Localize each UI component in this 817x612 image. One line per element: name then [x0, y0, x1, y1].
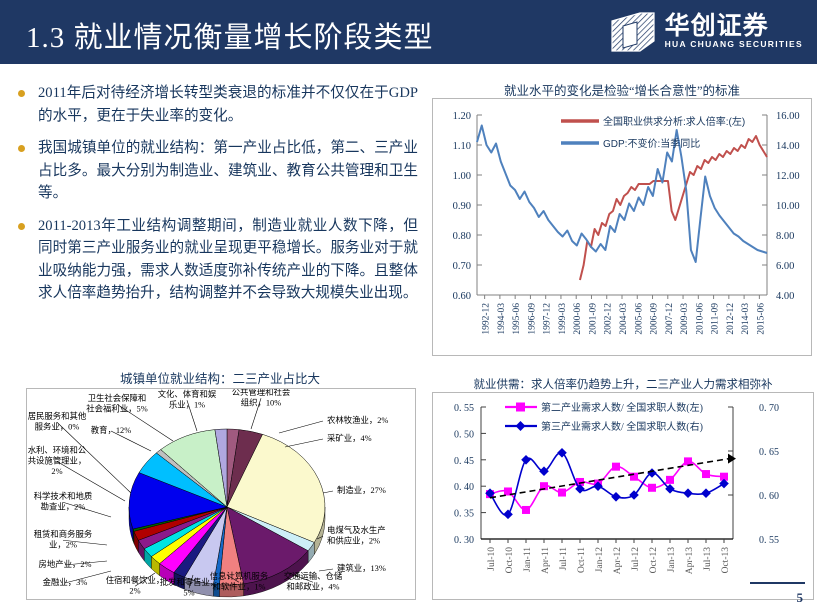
employment-gdp-chart: 1.201.101.000.900.800.700.6016.0014.0012…: [432, 98, 812, 356]
svg-text:信息计算机服务: 信息计算机服务: [210, 571, 269, 581]
svg-text:制造业，27%: 制造业，27%: [337, 485, 386, 495]
svg-text:租赁和商务服务: 租赁和商务服务: [34, 529, 93, 539]
logo-english-name: HUA CHUANG SECURITIES: [665, 39, 803, 50]
bullet-text: 2011-2013年工业结构调整期间，制造业就业人数下降，但同时第三产业服务业的…: [38, 215, 418, 305]
svg-text:Apr-12: Apr-12: [613, 547, 623, 574]
svg-text:12.00: 12.00: [776, 171, 800, 182]
labor-demand-ratio-chart: 0. 550. 500. 450. 400. 350. 300. 700. 65…: [432, 392, 814, 600]
svg-text:农林牧渔业，2%: 农林牧渔业，2%: [327, 415, 388, 425]
svg-text:2006-09: 2006-09: [650, 303, 660, 335]
top-right-chart-title: 就业水平的变化是检验“增长合意性”的标准: [432, 80, 812, 99]
pie-plot: 农林牧渔业，2%采矿业，4%制造业，27%电煤气及水生产和供应业，2%建筑业，1…: [27, 389, 415, 599]
svg-text:Jul-13: Jul-13: [703, 547, 713, 571]
svg-text:Oct-11: Oct-11: [577, 547, 587, 573]
svg-text:水利、环境和公: 水利、环境和公: [28, 445, 87, 455]
page-title: 1.3 就业情况衡量增长阶段类型: [26, 14, 434, 56]
svg-text:Oct-13: Oct-13: [721, 547, 731, 574]
svg-text:采矿业，4%: 采矿业，4%: [327, 433, 372, 443]
svg-text:0. 50: 0. 50: [454, 429, 474, 440]
svg-text:金融业，3%: 金融业，3%: [43, 577, 88, 587]
svg-text:1.10: 1.10: [453, 141, 471, 152]
svg-text:Jul-12: Jul-12: [631, 547, 641, 571]
top-right-plot: 1.201.101.000.900.800.700.6016.0014.0012…: [433, 99, 811, 355]
svg-text:0.60: 0.60: [453, 291, 471, 302]
svg-text:0.70: 0.70: [453, 261, 471, 272]
pie-chart-title: 城镇单位就业结构：二三产业占比大: [22, 368, 418, 387]
svg-text:社会福利业，5%: 社会福利业，5%: [86, 404, 147, 414]
svg-text:0. 40: 0. 40: [454, 482, 474, 493]
svg-text:2012-12: 2012-12: [726, 303, 736, 335]
svg-text:共设施管理业，: 共设施管理业，: [28, 456, 87, 466]
svg-text:建筑业，13%: 建筑业，13%: [337, 563, 386, 573]
svg-text:0. 55: 0. 55: [759, 535, 779, 546]
slide-header: 1.3 就业情况衡量增长阶段类型 华创证券 HUA CHUANG SECURIT…: [0, 0, 817, 64]
svg-text:Jan-13: Jan-13: [667, 547, 677, 573]
svg-text:2011-09: 2011-09: [711, 303, 721, 335]
bottom-right-plot: 0. 550. 500. 450. 400. 350. 300. 700. 65…: [433, 393, 813, 599]
svg-text:第二产业需求人数/ 全国求职人数(左): 第二产业需求人数/ 全国求职人数(左): [541, 401, 703, 414]
bullet-dot-icon: [18, 223, 25, 230]
svg-text:1.00: 1.00: [453, 171, 471, 182]
svg-text:1.20: 1.20: [453, 111, 471, 122]
bottom-right-chart-title: 就业供需：求人倍率仍趋势上升，二三产业人力需求相弥补: [432, 376, 814, 392]
svg-text:Apr-11: Apr-11: [541, 547, 551, 574]
svg-text:2015-06: 2015-06: [756, 303, 766, 335]
svg-text:1995-06: 1995-06: [512, 303, 522, 335]
bullet-text: 2011年后对待经济增长转型类衰退的标准并不仅仅在于GDP的水平，更在于失业率的…: [38, 82, 418, 127]
svg-text:0. 60: 0. 60: [759, 491, 779, 502]
svg-text:14.00: 14.00: [776, 141, 800, 152]
svg-text:Apr-13: Apr-13: [685, 547, 695, 574]
svg-text:房地产业，2%: 房地产业，2%: [38, 559, 91, 569]
bullet-list: 2011年后对待经济增长转型类衰退的标准并不仅仅在于GDP的水平，更在于失业率的…: [18, 82, 418, 315]
svg-text:0. 55: 0. 55: [454, 403, 474, 414]
svg-text:0. 45: 0. 45: [454, 456, 474, 467]
svg-text:Oct-10: Oct-10: [505, 547, 515, 574]
cube-logo-icon: [610, 11, 656, 53]
list-item: 2011年后对待经济增长转型类衰退的标准并不仅仅在于GDP的水平，更在于失业率的…: [18, 82, 418, 127]
svg-text:2000-06: 2000-06: [573, 303, 583, 335]
list-item: 我国城镇单位的就业结构：第一产业占比低，第二、三产业占比多。最大分别为制造业、建…: [18, 137, 418, 205]
svg-text:文化、体育和娱: 文化、体育和娱: [158, 389, 217, 399]
svg-text:1997-12: 1997-12: [543, 303, 553, 335]
svg-text:2001-09: 2001-09: [588, 303, 598, 335]
svg-text:居民服务和其他: 居民服务和其他: [28, 411, 87, 421]
svg-text:0.90: 0.90: [453, 201, 471, 212]
bullet-dot-icon: [18, 145, 25, 152]
svg-text:2%: 2%: [51, 467, 62, 476]
svg-text:第三产业需求人数/ 全国求职人数(右): 第三产业需求人数/ 全国求职人数(右): [541, 420, 703, 433]
page-number: 5: [797, 590, 804, 606]
svg-text:0. 30: 0. 30: [454, 535, 474, 546]
svg-text:Jan-12: Jan-12: [595, 547, 605, 573]
svg-text:Jul-11: Jul-11: [559, 547, 569, 571]
svg-text:Jul-10: Jul-10: [487, 547, 497, 571]
svg-text:2010-06: 2010-06: [695, 303, 705, 335]
svg-text:勘查业，2%: 勘查业，2%: [41, 502, 86, 512]
svg-text:1996-09: 1996-09: [527, 303, 537, 335]
svg-text:4.00: 4.00: [776, 291, 794, 302]
bullet-text: 我国城镇单位的就业结构：第一产业占比低，第二、三产业占比多。最大分别为制造业、建…: [38, 137, 418, 205]
svg-text:科学技术和地质: 科学技术和地质: [34, 491, 93, 501]
svg-text:10.00: 10.00: [776, 201, 800, 212]
svg-text:2009-03: 2009-03: [680, 303, 690, 335]
svg-text:服务业，0%: 服务业，0%: [35, 422, 80, 432]
svg-text:交通运输、仓储: 交通运输、仓储: [284, 571, 343, 581]
svg-text:批发和零售业，: 批发和零售业，: [160, 577, 219, 587]
svg-text:2002-12: 2002-12: [604, 303, 614, 335]
urban-employment-structure-chart: 农林牧渔业，2%采矿业，4%制造业，27%电煤气及水生产和供应业，2%建筑业，1…: [26, 388, 416, 600]
svg-text:GDP:不变价:当季同比: GDP:不变价:当季同比: [603, 137, 700, 150]
svg-text:16.00: 16.00: [776, 111, 800, 122]
svg-text:教育，12%: 教育，12%: [91, 425, 131, 435]
svg-text:6.00: 6.00: [776, 261, 794, 272]
svg-text:电煤气及水生产: 电煤气及水生产: [327, 525, 386, 535]
svg-text:和供应业，2%: 和供应业，2%: [327, 536, 380, 546]
page-number-rule: [750, 582, 805, 584]
svg-text:0. 65: 0. 65: [759, 447, 779, 458]
svg-text:Jan-11: Jan-11: [523, 547, 533, 572]
bullet-dot-icon: [18, 90, 25, 97]
svg-text:和软件业，1%: 和软件业，1%: [212, 582, 265, 592]
svg-text:公共管理和社会: 公共管理和社会: [232, 389, 291, 397]
svg-text:1994-03: 1994-03: [497, 303, 507, 335]
logo-chinese-name: 华创证券: [665, 14, 803, 39]
svg-text:2004-03: 2004-03: [619, 303, 629, 335]
svg-text:1999-03: 1999-03: [558, 303, 568, 335]
svg-text:业，2%: 业，2%: [49, 540, 77, 550]
svg-text:1992-12: 1992-12: [482, 303, 492, 335]
svg-text:住宿和餐饮业，: 住宿和餐饮业，: [106, 575, 165, 585]
svg-text:5%: 5%: [183, 589, 194, 598]
svg-text:Oct-12: Oct-12: [649, 547, 659, 574]
svg-text:0.80: 0.80: [453, 231, 471, 242]
svg-text:0. 35: 0. 35: [454, 509, 474, 520]
svg-text:和邮政业，4%: 和邮政业，4%: [286, 582, 339, 592]
company-logo: 华创证券 HUA CHUANG SECURITIES: [610, 9, 803, 55]
svg-text:0. 70: 0. 70: [759, 403, 779, 414]
svg-text:2014-03: 2014-03: [741, 303, 751, 335]
svg-text:2005-06: 2005-06: [634, 303, 644, 335]
svg-text:卫生社会保障和: 卫生社会保障和: [88, 393, 147, 403]
svg-text:2007-12: 2007-12: [665, 303, 675, 335]
svg-text:全国职业供求分析:求人倍率:(左): 全国职业供求分析:求人倍率:(左): [603, 115, 745, 128]
svg-text:8.00: 8.00: [776, 231, 794, 242]
list-item: 2011-2013年工业结构调整期间，制造业就业人数下降，但同时第三产业服务业的…: [18, 215, 418, 305]
svg-text:2%: 2%: [129, 587, 140, 596]
